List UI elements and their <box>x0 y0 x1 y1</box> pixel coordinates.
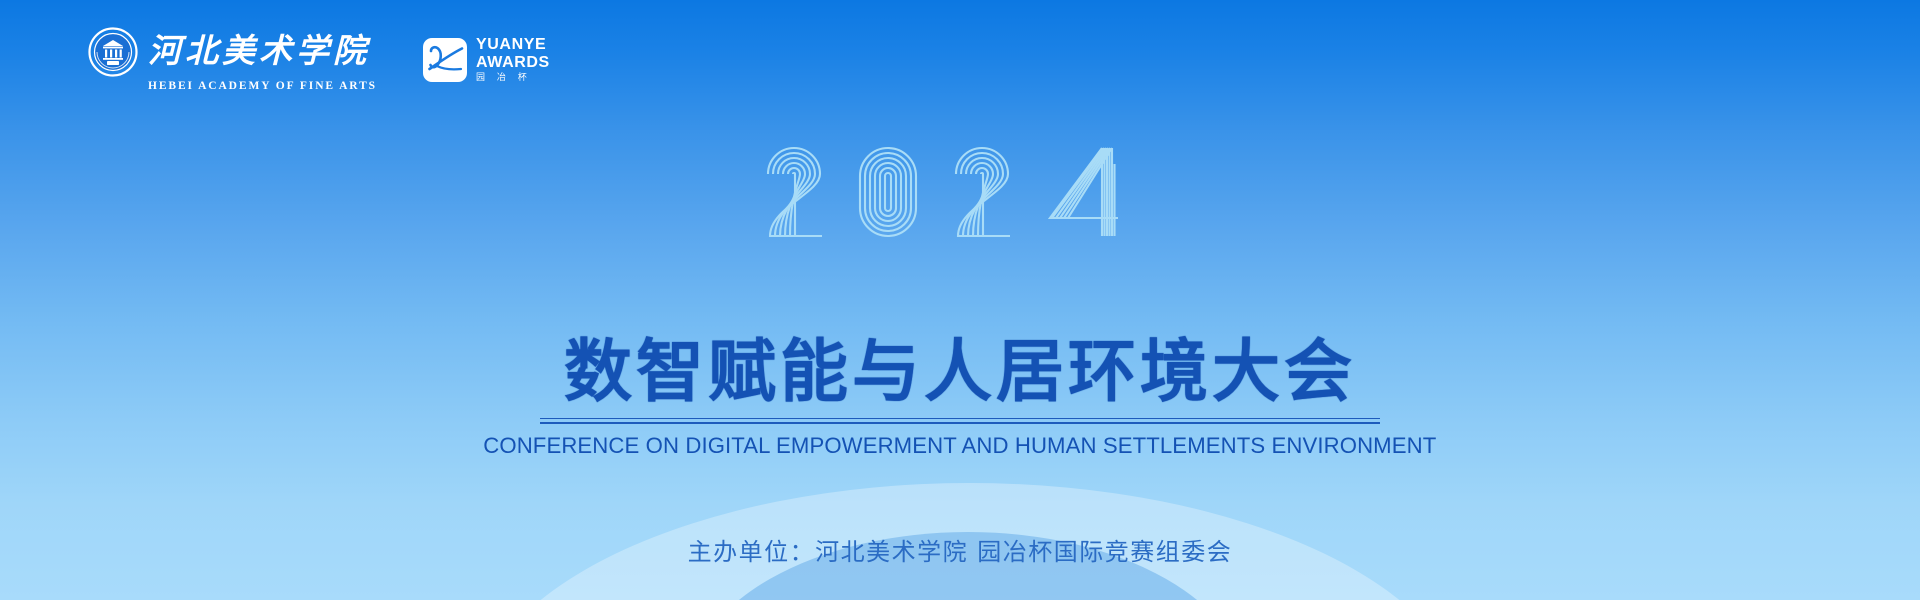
yuanye-wordmark: YUANYE AWARDS 园 冶 杯 <box>476 37 550 83</box>
yuanye-name-cn: 园 冶 杯 <box>476 74 550 83</box>
hebei-logo-top: 河北美术学院 <box>88 27 370 77</box>
conference-banner: 河北美术学院 HEBEI ACADEMY OF FINE ARTS YUANYE… <box>0 0 1920 600</box>
hebei-academy-logo[interactable]: 河北美术学院 HEBEI ACADEMY OF FINE ARTS <box>88 27 377 92</box>
yuanye-line1: YUANYE <box>476 37 550 53</box>
title-divider <box>540 418 1380 424</box>
page-title-cn: 数智赋能与人居环境大会 <box>564 338 1356 409</box>
hebei-name-en: HEBEI ACADEMY OF FINE ARTS <box>148 80 377 92</box>
logo-row: 河北美术学院 HEBEI ACADEMY OF FINE ARTS YUANYE… <box>88 27 550 92</box>
yuanye-awards-logo[interactable]: YUANYE AWARDS 园 冶 杯 <box>423 37 550 83</box>
year-2024-striped <box>760 136 1160 261</box>
title-block: 数智赋能与人居环境大会 CONFERENCE ON DIGITAL EMPOWE… <box>0 338 1920 459</box>
organizer-line: 主办单位：河北美术学院 园冶杯国际竞赛组委会 <box>0 532 1920 567</box>
year-graphic <box>0 136 1920 261</box>
hebei-name-cn: 河北美术学院 <box>148 36 370 69</box>
yuanye-leaf-mark-icon <box>423 38 467 82</box>
divider-line-bottom <box>540 422 1380 424</box>
page-title-en: CONFERENCE ON DIGITAL EMPOWERMENT AND HU… <box>483 433 1436 459</box>
university-seal-icon <box>88 27 138 77</box>
yuanye-line2: AWARDS <box>476 55 550 71</box>
divider-line-top <box>540 418 1380 420</box>
